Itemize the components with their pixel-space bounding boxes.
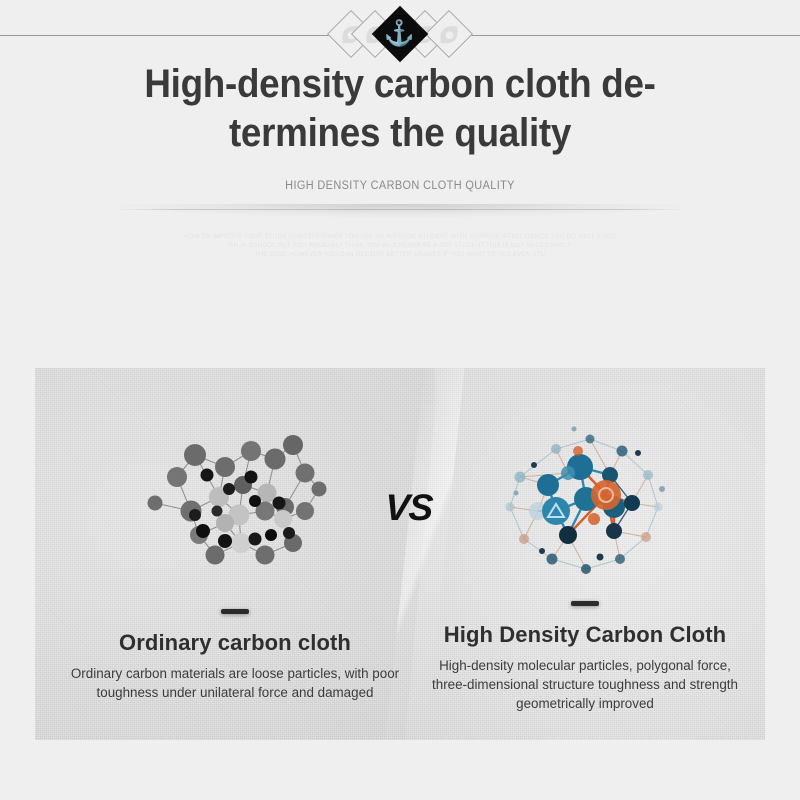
leaf-icon [441, 26, 458, 43]
page-subtitle: HIGH DENSITY CARBON CLOTH QUALITY [20, 180, 780, 192]
watermark-line-2: GH IN SCHOOL,BUT YOU PROBABLY THINK YOU … [175, 242, 625, 251]
comparison-panel: Ordinary carbon cloth Ordinary carbon ma… [35, 368, 765, 740]
watermark-line-3: THE CASE,HOWEVER,YOU CAN RECEIVE BETTER … [175, 251, 625, 260]
watermark-paragraph: HOW TO IMPROVE YOUR STUDY HABITSPERHAPS … [0, 233, 800, 259]
card-description-ordinary: Ordinary carbon materials are loose part… [70, 664, 400, 702]
header-ornament-band: ⚓ [0, 0, 800, 68]
anchor-icon: ⚓ [384, 21, 415, 46]
page-title-line-2: termines the quality [133, 109, 667, 158]
card-title-high-density: High Density Carbon Cloth [444, 622, 726, 648]
grayscale-molecule-cluster-icon [128, 410, 343, 595]
divider-dash-right [571, 601, 599, 606]
vs-label: VS [384, 487, 434, 529]
title-block: High-density carbon cloth de- termines t… [0, 60, 800, 192]
page-title-line-1: High-density carbon cloth de- [133, 60, 667, 109]
card-title-ordinary: Ordinary carbon cloth [119, 630, 351, 656]
divider-dash-left [221, 609, 249, 614]
divider-line [112, 209, 688, 210]
card-description-high-density: High-density molecular particles, polygo… [424, 656, 746, 713]
page-title: High-density carbon cloth de- termines t… [32, 60, 768, 158]
watermark-line-1: HOW TO IMPROVE YOUR STUDY HABITSPERHAPS … [175, 233, 625, 242]
blue-orange-molecule-sphere-icon [478, 404, 693, 589]
divider-shadow [110, 204, 690, 218]
comparison-card-high-density: High Density Carbon Cloth High-density m… [405, 368, 765, 740]
comparison-card-ordinary: Ordinary carbon cloth Ordinary carbon ma… [35, 368, 435, 740]
diamond-ornament-group: ⚓ [339, 0, 461, 68]
